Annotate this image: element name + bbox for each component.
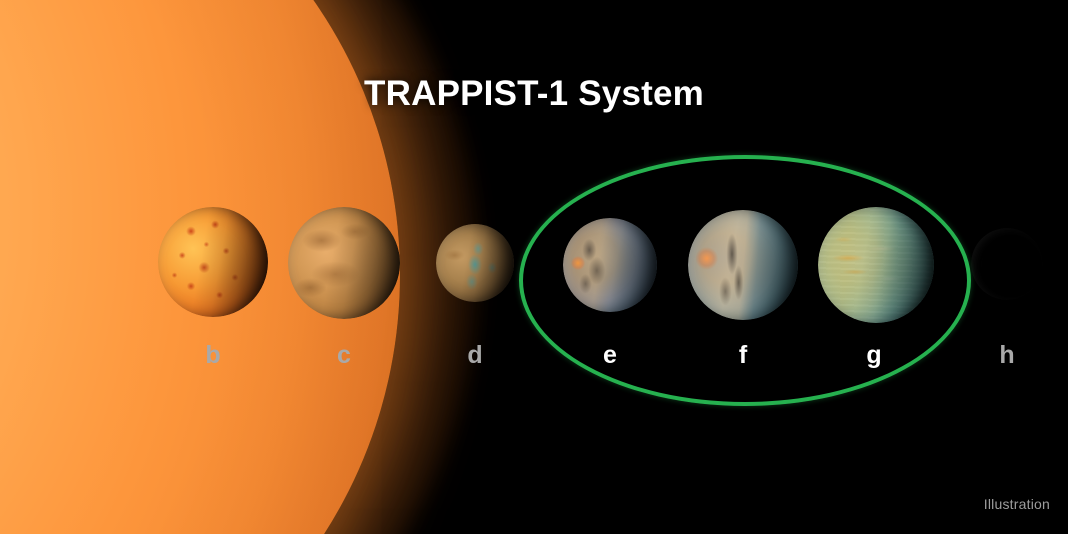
planet-f <box>688 210 798 320</box>
planet-d-rim <box>436 224 514 302</box>
planet-c <box>288 207 400 319</box>
planet-e <box>563 218 657 312</box>
planet-c-rim <box>288 207 400 319</box>
planet-f-rim <box>688 210 798 320</box>
planet-g-rim <box>818 207 934 323</box>
planet-label-d: d <box>440 343 510 368</box>
illustration-credit: Illustration <box>984 496 1050 512</box>
planet-label-f: f <box>708 343 778 368</box>
planet-h-rim <box>971 228 1043 300</box>
planet-label-e: e <box>575 343 645 368</box>
trappist1-illustration: TRAPPIST-1 System b c d e f g <box>0 0 1068 534</box>
planet-label-h: h <box>972 343 1042 368</box>
planet-label-c: c <box>309 343 379 368</box>
planet-h <box>971 228 1043 300</box>
planet-e-rim <box>563 218 657 312</box>
planet-label-g: g <box>839 343 909 368</box>
planet-b-rim <box>158 207 268 317</box>
planet-g <box>818 207 934 323</box>
planet-d <box>436 224 514 302</box>
planet-label-b: b <box>178 343 248 368</box>
planet-b <box>158 207 268 317</box>
page-title: TRAPPIST-1 System <box>0 74 1068 114</box>
